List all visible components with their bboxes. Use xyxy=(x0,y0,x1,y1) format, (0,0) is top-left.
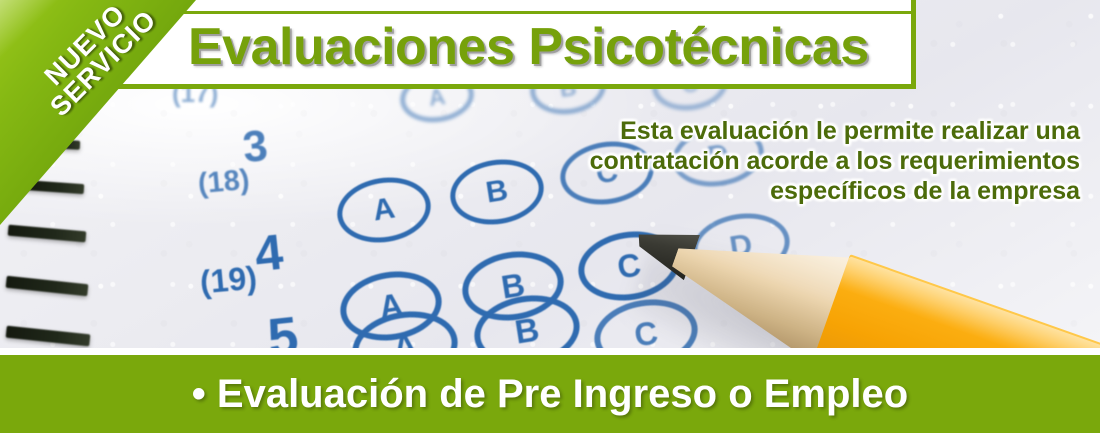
sheet-row-label: (19) xyxy=(198,260,258,302)
promo-description: Esta evaluación le permite realizar una … xyxy=(480,116,1080,206)
promo-description-line1: Esta evaluación le permite realizar una xyxy=(480,116,1080,146)
page-title: Evaluaciones Psicotécnicas xyxy=(188,17,869,77)
bottom-callout-bar: • Evaluación de Pre Ingreso o Empleo xyxy=(0,355,1100,433)
banner-divider xyxy=(0,348,1100,355)
bottom-callout-text: • Evaluación de Pre Ingreso o Empleo xyxy=(192,372,908,417)
sheet-row-label: (18) xyxy=(197,164,251,201)
sheet-row-number: 4 xyxy=(252,223,286,284)
promo-description-line3: específicos de la empresa xyxy=(480,176,1080,206)
promo-description-line2: contratación acorde a los requerimientos xyxy=(480,146,1080,176)
promo-banner: (17) A B C 3 (18) A B C D 4 (19) A B C D… xyxy=(0,0,1100,433)
title-top-rule xyxy=(178,11,916,14)
